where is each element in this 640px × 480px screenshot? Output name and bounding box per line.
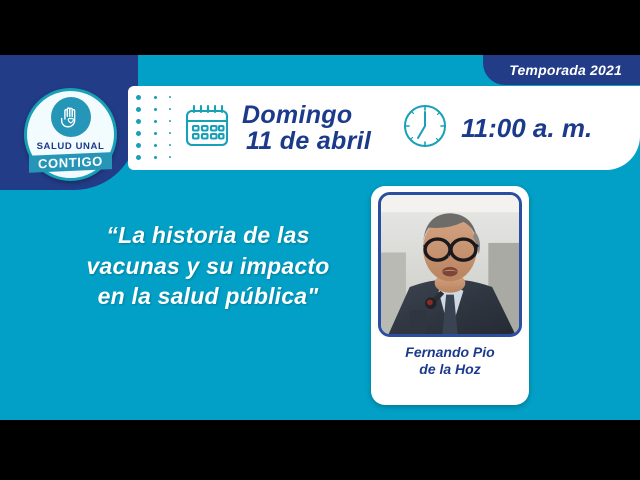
video-poster: Temporada 2021 [0,0,640,480]
brand-logo-ribbon: CONTIGO [29,152,112,173]
time-group: 11:00 a. m. [401,102,592,155]
quote-line-1: “La historia de las [58,220,358,251]
season-banner-label: Temporada 2021 [509,62,622,78]
speaker-name-line2: de la Hoz [371,361,529,378]
letterbox-bottom-bar [0,420,640,480]
dot-pattern-decoration [128,86,180,170]
season-banner: Temporada 2021 [483,55,640,85]
navy-left-tab [0,110,10,155]
schedule-band: Domingo 11 de abril 11:00 a. m. [128,86,640,170]
speaker-portrait [381,195,519,334]
clock-icon [401,102,449,155]
talk-title-quote: “La historia de las vacunas y su impacto… [58,220,358,312]
speaker-name-line1: Fernando Pio [371,344,529,361]
speaker-photo-frame [378,192,522,337]
brand-logo-badge[interactable]: SALUD UNAL CONTIGO [24,88,117,181]
brand-logo-line2: CONTIGO [38,153,103,171]
hand-heart-icon [51,97,91,137]
time-text: 11:00 a. m. [461,113,592,144]
brand-logo-line1: SALUD UNAL [37,141,105,152]
quote-line-2: vacunas y su impacto [58,251,358,282]
day-name: Domingo [242,102,371,128]
poster-canvas: Temporada 2021 [0,55,640,420]
quote-line-3: en la salud pública" [58,281,358,312]
speaker-name: Fernando Pio de la Hoz [371,344,529,378]
calendar-icon [182,102,232,155]
day-date: 11 de abril [242,128,371,154]
letterbox-top-bar [0,0,640,55]
date-group: Domingo 11 de abril [182,102,371,155]
date-text: Domingo 11 de abril [242,102,371,154]
speaker-card: Fernando Pio de la Hoz [371,186,529,405]
